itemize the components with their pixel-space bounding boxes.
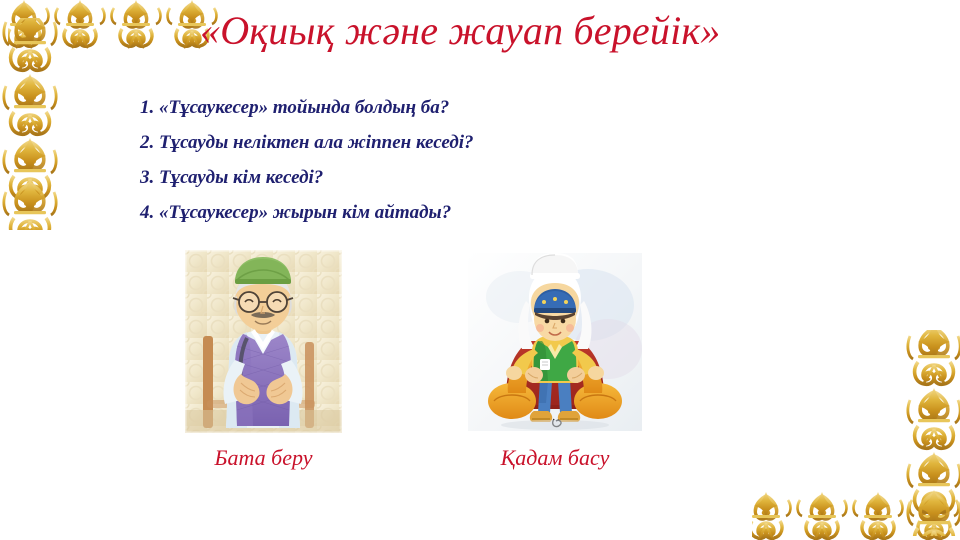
ornament-top-left-vertical-icon — [2, 18, 58, 230]
question-list: 1. «Тұсаукесер» тойында болдың ба? 2. Тұ… — [140, 98, 760, 238]
page-title: «Оқиық және жауап берейік» — [200, 8, 900, 54]
ornament-bottom-right-horizontal-icon — [752, 490, 960, 540]
caption-kadam-basu: Қадам басу — [468, 445, 642, 471]
ornament-bottom-right-vertical-icon — [906, 330, 960, 536]
figure-kadam-basu — [468, 253, 642, 431]
figure-bata-beru — [185, 250, 342, 433]
list-item: 4. «Тұсаукесер» жырын кім айтады? — [140, 203, 760, 222]
list-item: 1. «Тұсаукесер» тойында болдың ба? — [140, 98, 760, 117]
illustration-blessing-elder — [185, 250, 342, 433]
list-item: 2. Тұсауды неліктен ала жіппен кеседі? — [140, 133, 760, 152]
illustration-grandmother-and-boy — [468, 253, 642, 431]
caption-bata-beru: Бата беру — [185, 445, 342, 471]
list-item: 3. Тұсауды кім кеседі? — [140, 168, 760, 187]
slide-canvas: «Оқиық және жауап берейік» 1. «Тұсаукесе… — [0, 0, 960, 540]
